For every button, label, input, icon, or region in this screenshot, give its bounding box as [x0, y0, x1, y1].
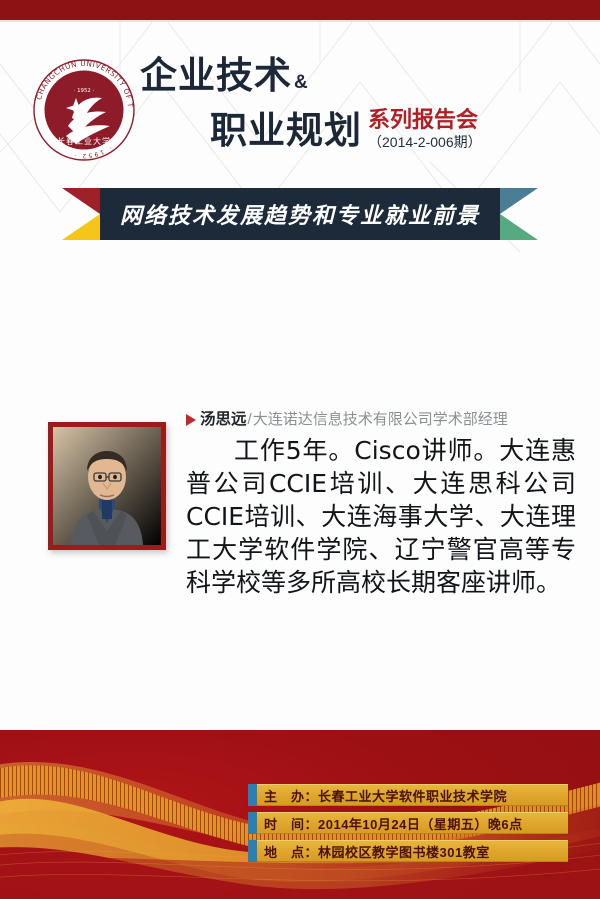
top-crimson-bar [0, 0, 600, 20]
info-accent-bar [248, 812, 257, 834]
poster-root: CHANGCHUN UNIVERSITY OF TECHNOLOGY · 195… [0, 0, 600, 899]
ribbon-title: 网络技术发展趋势和专业就业前景 [100, 188, 500, 240]
title-line-2-row: 职业规划 系列报告会 （2014-2-006期） [140, 107, 580, 153]
info-row-organizer: 主 办：长春工业大学软件职业技术学院 [248, 784, 568, 806]
title-ampersand: & [294, 72, 309, 93]
info-bar-body: 主 办：长春工业大学软件职业技术学院 [257, 784, 568, 806]
info-accent-bar [248, 840, 257, 862]
university-seal-icon: CHANGCHUN UNIVERSITY OF TECHNOLOGY · 195… [32, 58, 136, 162]
poster-header: CHANGCHUN UNIVERSITY OF TECHNOLOGY · 195… [0, 22, 600, 182]
speaker-photo-frame [48, 422, 166, 550]
ribbon-left-top-triangle [62, 188, 100, 214]
topic-ribbon: 网络技术发展趋势和专业就业前景 [62, 188, 538, 240]
info-label-location: 地 点：林园校区教学图书楼301教室 [264, 842, 490, 861]
speaker-info-block: 汤思远 / 大连诺达信息技术有限公司学术部经理 工作5年。Cisco讲师。大连惠… [186, 410, 576, 599]
series-wrap: 系列报告会 （2014-2-006期） [368, 107, 482, 153]
speaker-name: 汤思远 [200, 410, 247, 430]
svg-text:长春工业大学: 长春工业大学 [57, 136, 111, 146]
ribbon-right-bottom-triangle [500, 214, 538, 240]
info-accent-bar [248, 784, 257, 806]
speaker-biography: 工作5年。Cisco讲师。大连惠普公司CCIE培训、大连思科公司CCIE培训、大… [186, 434, 576, 599]
title-line-2: 职业规划 [210, 109, 362, 153]
speaker-headline: 汤思远 / 大连诺达信息技术有限公司学术部经理 [186, 410, 576, 430]
info-label-organizer: 主 办：长春工业大学软件职业技术学院 [264, 786, 507, 805]
speaker-role: 大连诺达信息技术有限公司学术部经理 [253, 410, 508, 430]
title-block: 企业技术& 职业规划 系列报告会 （2014-2-006期） [140, 54, 580, 153]
info-row-time: 时 间：2014年10月24日（星期五）晚6点 [248, 812, 568, 834]
event-info-bars: 主 办：长春工业大学软件职业技术学院 时 间：2014年10月24日（星期五）晚… [248, 784, 568, 868]
ribbon-left-bottom-triangle [62, 214, 100, 240]
title-line-1-text: 企业技术 [140, 55, 292, 96]
info-bar-body: 时 间：2014年10月24日（星期五）晚6点 [257, 812, 568, 834]
info-row-location: 地 点：林园校区教学图书楼301教室 [248, 840, 568, 862]
info-bar-body: 地 点：林园校区教学图书楼301教室 [257, 840, 568, 862]
speaker-portrait-illustration [53, 427, 161, 545]
title-line-1: 企业技术& [140, 54, 580, 105]
info-label-time: 时 间：2014年10月24日（星期五）晚6点 [264, 814, 523, 833]
series-label: 系列报告会 [368, 107, 482, 132]
speaker-photo [53, 427, 161, 545]
issue-number: （2014-2-006期） [368, 133, 482, 151]
triangle-bullet-icon [186, 414, 196, 426]
svg-text:· 1952 ·: · 1952 · [74, 88, 95, 94]
ribbon-right-top-triangle [500, 188, 538, 214]
speaker-separator: / [248, 410, 252, 430]
